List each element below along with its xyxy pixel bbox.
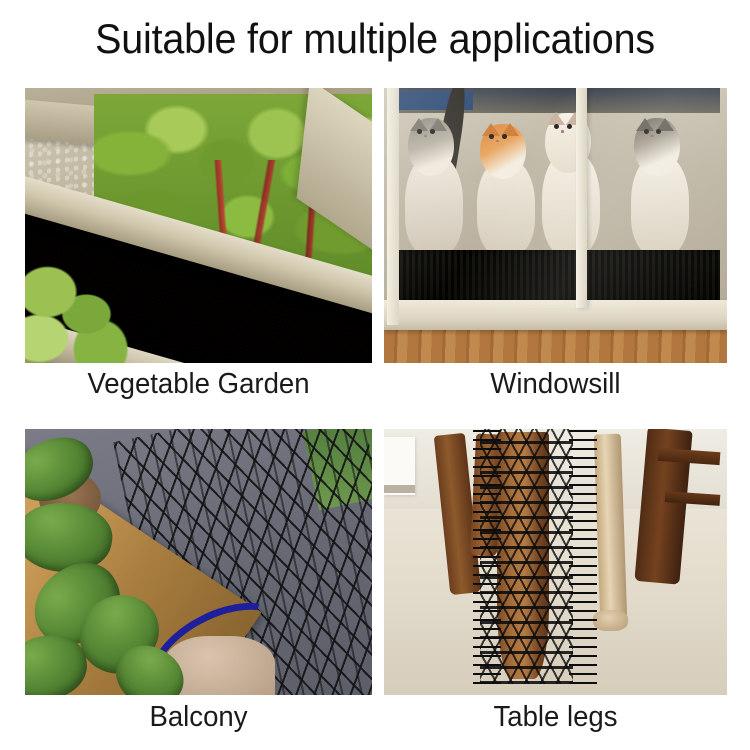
garden-left-foliage	[25, 259, 136, 364]
caption-table-legs: Table legs	[393, 700, 719, 734]
caption-vegetable-garden: Vegetable Garden	[34, 367, 364, 401]
page-title: Suitable for multiple applications	[23, 14, 728, 64]
panel-image-table-legs	[384, 429, 727, 695]
panel-image-windowsill	[384, 88, 727, 363]
panel-image-vegetable-garden	[25, 88, 372, 363]
caption-windowsill: Windowsill	[393, 367, 719, 401]
table-leg-foot	[593, 610, 627, 631]
spike-strip-edge-right	[569, 429, 596, 684]
spike-strip-edge-left	[473, 429, 500, 684]
window-glass-reflection	[384, 88, 727, 308]
background-skirting	[384, 485, 415, 493]
caption-balcony: Balcony	[34, 700, 364, 734]
panel-image-balcony	[25, 429, 372, 695]
windowsill-wood-floor	[384, 325, 727, 364]
